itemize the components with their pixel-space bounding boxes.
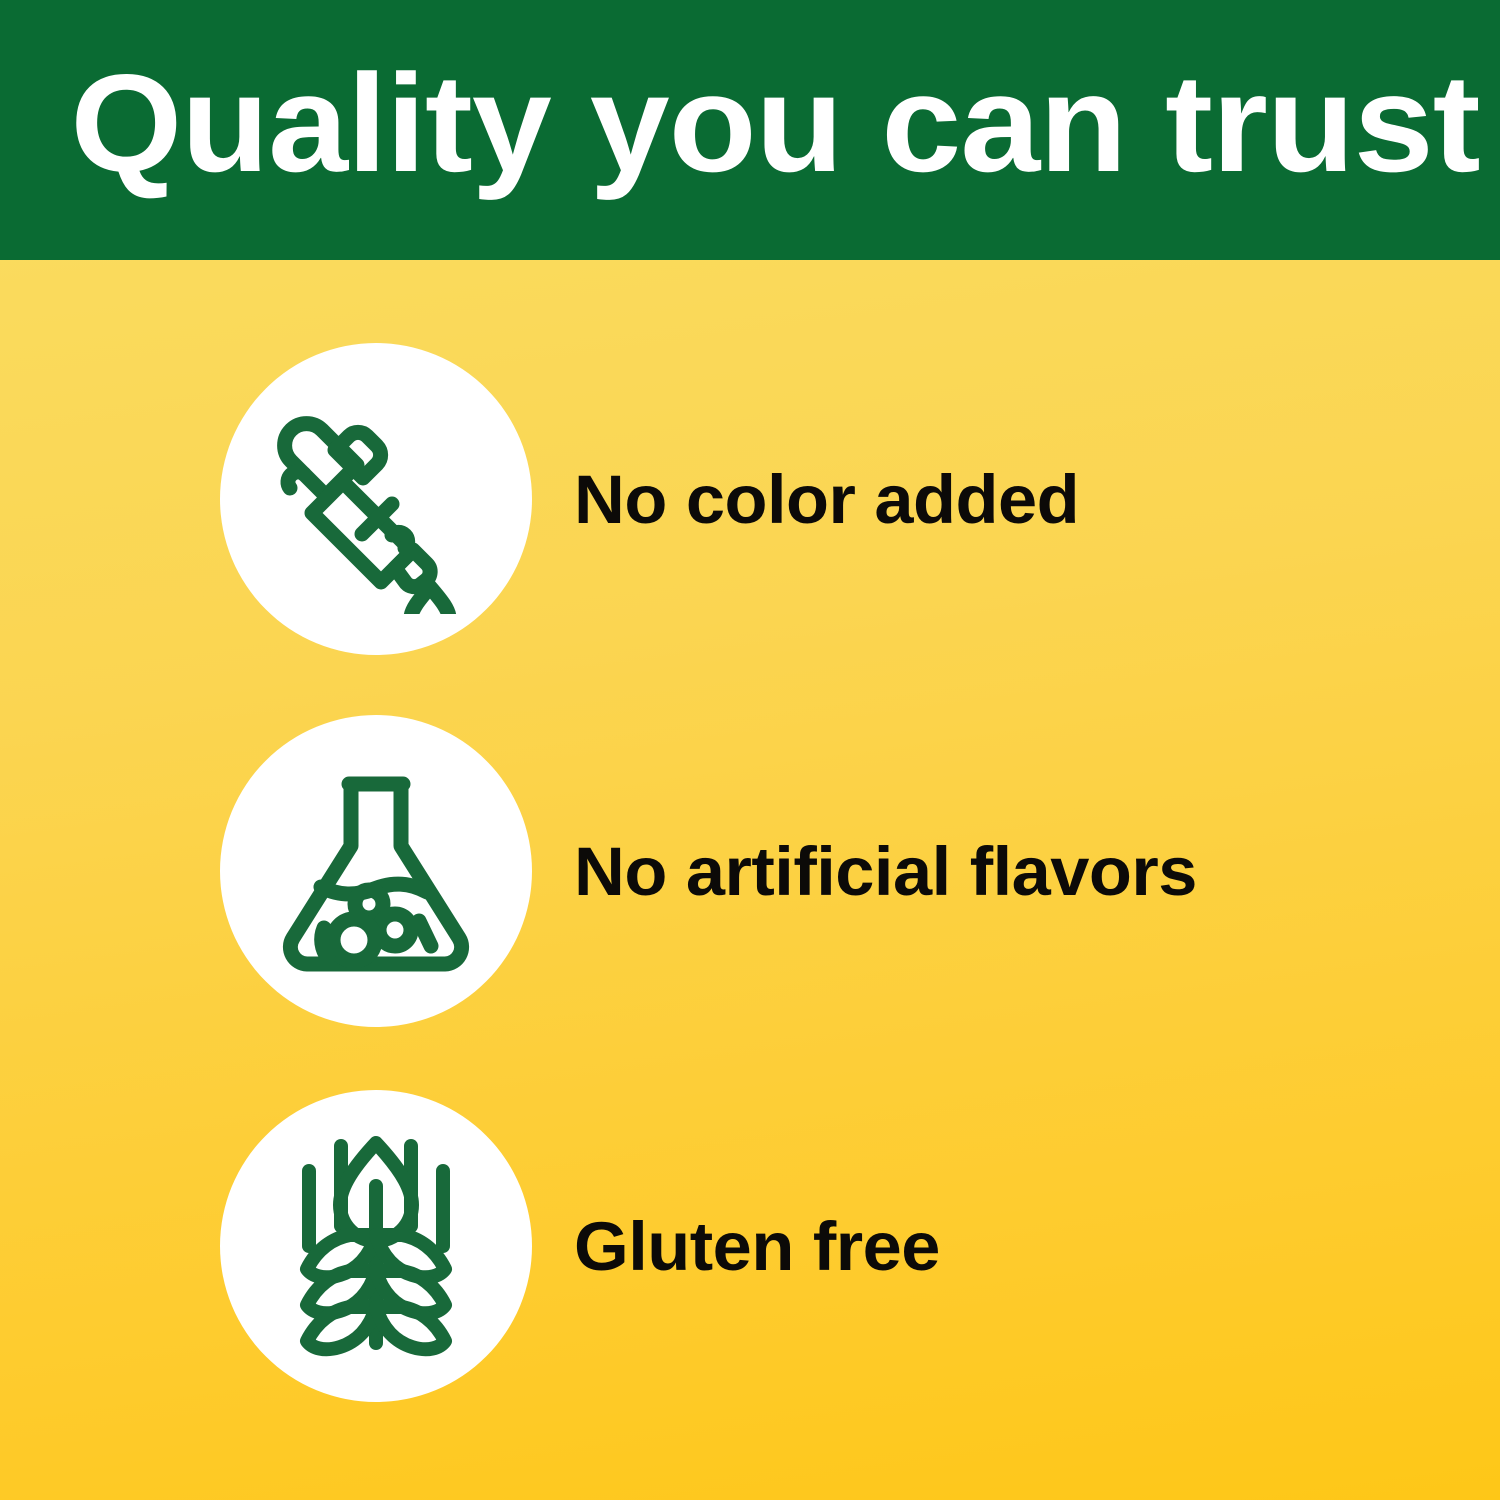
icon-circle (220, 715, 532, 1027)
header-banner: Quality you can trust (0, 0, 1500, 260)
promo-banner: Quality you can trust (0, 0, 1500, 1500)
flask-icon (261, 756, 491, 986)
feature-item-no-color-added: No color added (0, 340, 1500, 658)
feature-label: No artificial flavors (574, 837, 1197, 906)
feature-item-no-artificial-flavors: No artificial flavors (0, 712, 1500, 1030)
eyedropper-icon (261, 384, 491, 614)
feature-list: No color added (0, 260, 1500, 1500)
feature-label: No color added (574, 465, 1079, 534)
page-title: Quality you can trust (0, 54, 1480, 207)
icon-circle (220, 1090, 532, 1402)
wheat-icon (261, 1131, 491, 1361)
feature-label: Gluten free (574, 1212, 940, 1281)
icon-circle (220, 343, 532, 655)
feature-item-gluten-free: Gluten free (0, 1087, 1500, 1405)
